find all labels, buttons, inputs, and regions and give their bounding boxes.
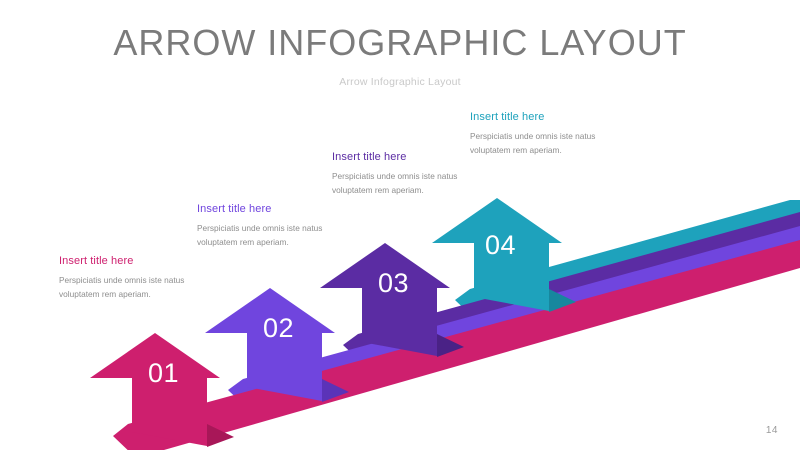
arrow-infographic-graphic bbox=[0, 0, 800, 450]
step-text-block-02: Insert title here Perspiciatis unde omni… bbox=[197, 203, 332, 249]
arrow-marker-02[interactable] bbox=[205, 288, 335, 401]
step-body-02: Perspiciatis unde omnis iste natus volup… bbox=[197, 222, 332, 249]
step-text-block-01: Insert title here Perspiciatis unde omni… bbox=[59, 255, 194, 301]
slide-canvas: ARROW INFOGRAPHIC LAYOUT Arrow Infograph… bbox=[0, 0, 800, 450]
step-text-block-04: Insert title here Perspiciatis unde omni… bbox=[470, 111, 605, 157]
step-body-03: Perspiciatis unde omnis iste natus volup… bbox=[332, 170, 467, 197]
step-text-block-03: Insert title here Perspiciatis unde omni… bbox=[332, 151, 467, 197]
step-body-01: Perspiciatis unde omnis iste natus volup… bbox=[59, 274, 194, 301]
arrow-number-02: 02 bbox=[263, 315, 294, 342]
step-title-02: Insert title here bbox=[197, 203, 332, 215]
page-number: 14 bbox=[766, 425, 778, 436]
step-title-04: Insert title here bbox=[470, 111, 605, 123]
arrow-number-04: 04 bbox=[485, 232, 516, 259]
arrow-number-01: 01 bbox=[148, 360, 179, 387]
step-title-03: Insert title here bbox=[332, 151, 467, 163]
arrow-marker-01[interactable] bbox=[90, 333, 220, 446]
arrow-number-03: 03 bbox=[378, 270, 409, 297]
step-body-04: Perspiciatis unde omnis iste natus volup… bbox=[470, 130, 605, 157]
step-title-01: Insert title here bbox=[59, 255, 194, 267]
arrow-marker-03[interactable] bbox=[320, 243, 450, 356]
